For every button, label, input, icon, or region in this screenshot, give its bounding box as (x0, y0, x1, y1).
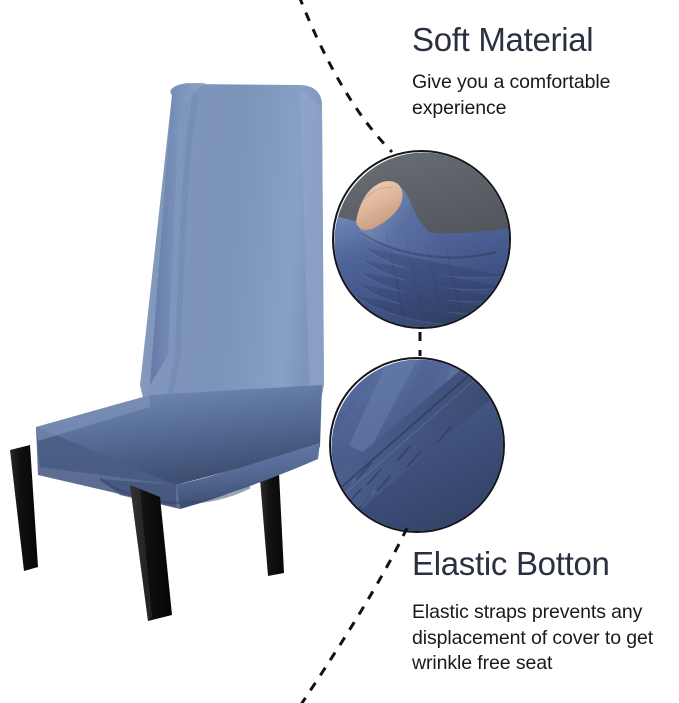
callout-elastic-hem (329, 357, 505, 533)
feature-heading-elastic-bottom: Elastic Botton (412, 546, 610, 582)
feature-heading-soft-material: Soft Material (412, 22, 593, 58)
feature-body-soft-material: Give you a comfortable experience (412, 70, 662, 121)
infographic-canvas: Soft Material Give you a comfortable exp… (0, 0, 679, 703)
product-photo-chair (0, 55, 330, 625)
chair-back-cover (140, 83, 324, 429)
callout-fabric-stretch (332, 150, 511, 329)
feature-body-elastic-bottom: Elastic straps prevents any displacement… (412, 600, 670, 677)
chair-leg-rear-left (10, 445, 38, 571)
